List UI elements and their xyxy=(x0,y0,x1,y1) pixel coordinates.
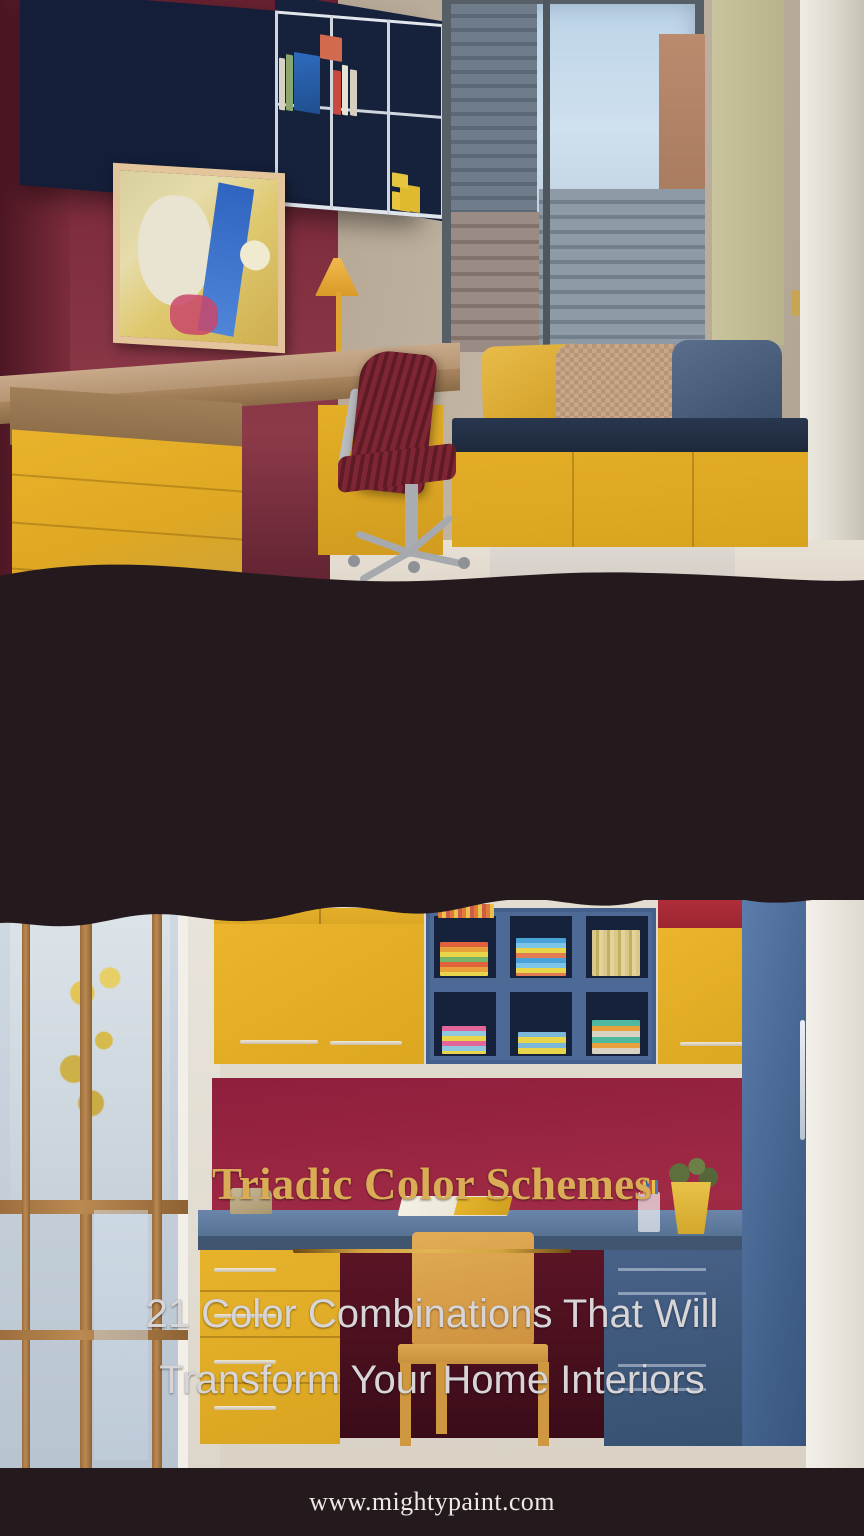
title-divider xyxy=(293,1249,571,1253)
pillow-textured xyxy=(556,344,684,424)
cabinet-handle-1 xyxy=(240,1040,318,1044)
page-subtitle: 21 Color Combinations That Will Transfor… xyxy=(40,1281,824,1413)
framed-artwork xyxy=(113,163,285,354)
page-title: Triadic Color Schemes xyxy=(0,1158,864,1210)
photo-top-home-office xyxy=(0,0,864,600)
tall-cabinet-handle xyxy=(800,1020,805,1140)
pinterest-pin: Triadic Color Schemes 21 Color Combinati… xyxy=(0,0,864,1536)
title-banner-content: Triadic Color Schemes 21 Color Combinati… xyxy=(0,546,864,942)
drawer-handle-1 xyxy=(214,1268,276,1272)
window-city-view xyxy=(442,0,704,343)
footer-bar: www.mightypaint.com xyxy=(0,1468,864,1536)
subtitle-line-1: 21 Color Combinations That Will xyxy=(146,1292,719,1336)
subtitle-line-2: Transform Your Home Interiors xyxy=(159,1358,704,1402)
olive-wall-panel xyxy=(712,0,784,345)
website-url[interactable]: www.mightypaint.com xyxy=(309,1487,555,1517)
cabinet-handle-2 xyxy=(330,1041,402,1045)
door-hardware xyxy=(792,290,800,316)
door-panel xyxy=(800,0,864,600)
bench-storage-drawers xyxy=(452,452,808,547)
bench-cushion xyxy=(452,418,808,454)
pillow-navy xyxy=(672,340,782,426)
